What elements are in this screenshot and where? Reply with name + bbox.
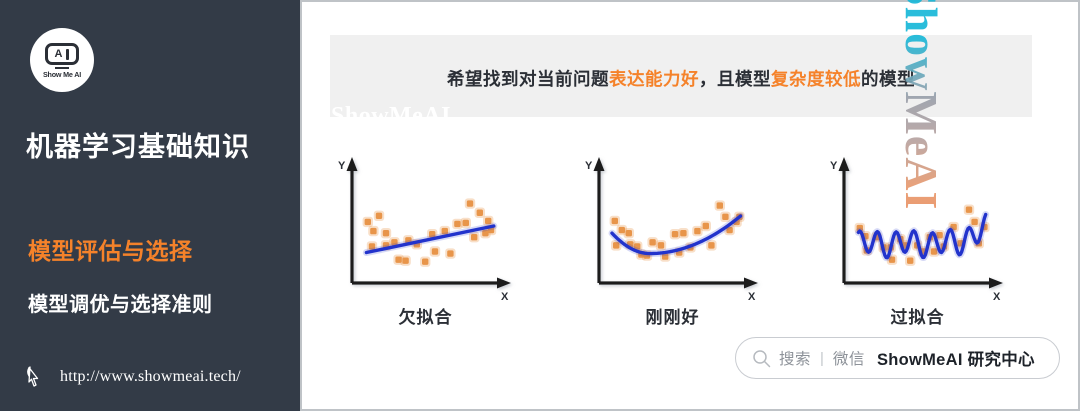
scatter-point xyxy=(672,231,678,237)
scatter-point xyxy=(471,234,477,240)
robot-face-icon: A xyxy=(45,43,79,65)
x-axis-label: X xyxy=(748,291,756,303)
search-divider: | xyxy=(820,350,824,367)
fit-curve xyxy=(858,215,985,258)
header-fragment-3: 复杂度较低 xyxy=(771,69,861,89)
scatter-point xyxy=(717,202,723,208)
scatter-point xyxy=(463,220,469,226)
scatter-point xyxy=(708,242,714,248)
robot-eye-letter: A xyxy=(55,49,63,60)
chart-underfitting: Y X 欠拟合 xyxy=(318,145,533,335)
scatter-point xyxy=(477,210,483,216)
scatter-point xyxy=(402,257,408,263)
current-subsection-title: 模型调优与选择准则 xyxy=(28,288,213,317)
scatter-point xyxy=(722,214,728,220)
cursor-arrow-icon xyxy=(26,365,48,389)
course-title: 机器学习基础知识 xyxy=(26,125,250,164)
scatter-point xyxy=(447,250,453,256)
scatter-point xyxy=(365,219,371,225)
logo-wordmark: Show Me AI xyxy=(43,70,81,79)
sidebar: A Show Me AI 机器学习基础知识 模型评估与选择 模型调优与选择准则 … xyxy=(0,0,300,411)
header-fragment-0: 希望找到对当前问题 xyxy=(447,69,609,89)
header-fragment-4: 的模型 xyxy=(861,69,915,89)
search-placeholder-text: 搜索 xyxy=(779,347,811,369)
y-axis-label: Y xyxy=(338,160,346,172)
scatter-point xyxy=(907,257,913,263)
scatter-point xyxy=(626,230,632,236)
scatter-point xyxy=(467,200,473,206)
chart-goodfit: Y X 刚刚好 xyxy=(565,145,780,335)
panel-border-left xyxy=(300,0,302,411)
x-axis-label: X xyxy=(501,291,509,303)
header-statement: 希望找到对当前问题表达能力好，且模型复杂度较低的模型 xyxy=(330,66,1032,91)
panel-border-top xyxy=(300,0,1080,2)
scatter-point xyxy=(383,230,389,236)
wechat-search-bar[interactable]: 搜索 | 微信 ShowMeAI 研究中心 xyxy=(735,337,1060,379)
scatter-point xyxy=(971,219,977,225)
scatter-point xyxy=(422,259,428,265)
site-url-text: http://www.showmeai.tech/ xyxy=(60,368,241,386)
chart-goodfit-svg: Y X xyxy=(565,145,780,305)
header-fragment-1: 表达能力好 xyxy=(609,69,699,89)
chart-overfitting-svg: Y X xyxy=(810,145,1025,305)
scatter-point xyxy=(432,248,438,254)
y-axis-label: Y xyxy=(585,160,593,172)
slide-root: A Show Me AI 机器学习基础知识 模型评估与选择 模型调优与选择准则 … xyxy=(0,0,1080,411)
scatter-point xyxy=(703,223,709,229)
chart-goodfit-caption: 刚刚好 xyxy=(565,303,780,328)
scatter-point xyxy=(376,213,382,219)
search-channel-label: 微信 xyxy=(833,347,865,369)
main-panel: 希望找到对当前问题表达能力好，且模型复杂度较低的模型 ShowMeAI Show… xyxy=(300,0,1080,411)
scatter-point xyxy=(694,228,700,234)
header-fragment-2: ，且模型 xyxy=(699,69,771,89)
scatter-point xyxy=(966,206,972,212)
search-icon xyxy=(752,349,771,368)
search-brand-label: ShowMeAI 研究中心 xyxy=(877,346,1035,370)
chart-overfitting-caption: 过拟合 xyxy=(810,303,1025,328)
scatter-point xyxy=(454,221,460,227)
y-axis-label: Y xyxy=(830,160,838,172)
showmeai-logo: A Show Me AI xyxy=(30,28,94,92)
chart-underfitting-svg: Y X xyxy=(318,145,533,305)
current-section-title: 模型评估与选择 xyxy=(28,232,193,266)
scatter-point xyxy=(658,242,664,248)
x-axis-label: X xyxy=(993,291,1001,303)
scatter-point xyxy=(370,228,376,234)
chart-underfitting-caption: 欠拟合 xyxy=(318,303,533,328)
scatter-point xyxy=(649,239,655,245)
scatter-point xyxy=(680,230,686,236)
robot-eye-bar-icon xyxy=(66,49,69,60)
scatter-point xyxy=(612,218,618,224)
site-url-row[interactable]: http://www.showmeai.tech/ xyxy=(26,365,241,389)
chart-overfitting: Y X 过拟合 xyxy=(810,145,1025,335)
robot-mouth-icon xyxy=(55,67,69,69)
